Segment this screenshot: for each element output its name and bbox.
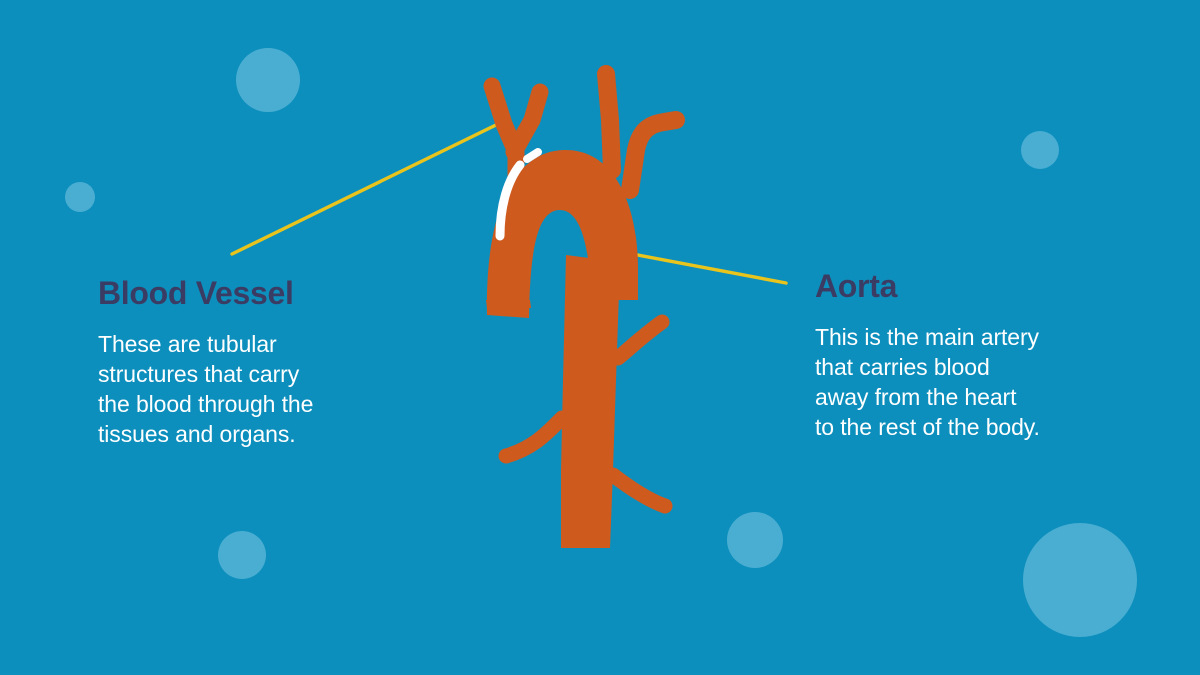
callout-left-body-line-3: the blood through the [98,389,438,419]
callout-left-body-line-1: These are tubular [98,329,438,359]
callout-right-body: This is the main artery that carries blo… [815,322,1155,442]
left-common-carotid-artery [606,74,612,170]
callout-right-heading: Aorta [815,270,1155,304]
brachiocephalic-branch-right [514,92,540,152]
intercostal-branch-middle [506,418,562,456]
intercostal-branch-lower [613,475,665,506]
callout-aorta: Aorta This is the main artery that carri… [815,270,1155,442]
slide-canvas: Blood Vessel These are tubular structure… [0,0,1200,675]
callout-right-body-line-4: to the rest of the body. [815,412,1155,442]
ascending-aorta [486,300,531,308]
callout-right-body-line-1: This is the main artery [815,322,1155,352]
left-subclavian-artery [630,120,676,190]
callout-blood-vessel: Blood Vessel These are tubular structure… [98,277,438,449]
callout-right-body-line-2: that carries blood [815,352,1155,382]
intercostal-branch-upper [618,322,662,358]
callout-left-heading: Blood Vessel [98,277,438,311]
callout-left-body-line-2: structures that carry [98,359,438,389]
callout-left-body-line-4: tissues and organs. [98,419,438,449]
callout-right-body-line-3: away from the heart [815,382,1155,412]
callout-left-body: These are tubular structures that carry … [98,329,438,449]
